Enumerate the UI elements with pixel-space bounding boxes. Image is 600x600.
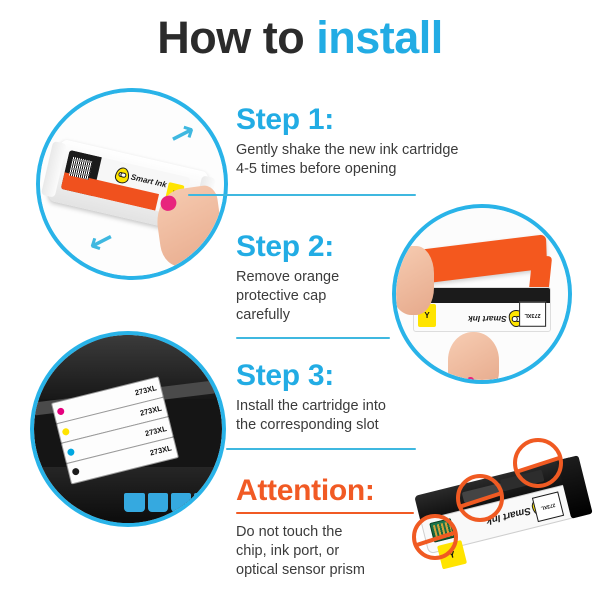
empty-slot-row xyxy=(124,493,214,512)
ink-droplet-mascot-icon xyxy=(114,165,131,184)
page-title-part2: install xyxy=(316,12,443,63)
cartridge-model-label: 273XL xyxy=(519,302,546,327)
step-3-body: Install the cartridge into the correspon… xyxy=(236,397,486,435)
no-touch-marker-optical-sensor-prism xyxy=(456,474,504,522)
step-2-text-block: Step 2: Remove orange protective cap car… xyxy=(236,231,406,325)
step-2-body-line-1: Remove orange xyxy=(236,268,406,287)
smart-ink-logo: Smart Ink xyxy=(468,310,524,327)
step-3-divider xyxy=(226,448,416,450)
cartridge-body-step2: Y Smart Ink 273XL xyxy=(413,287,551,332)
how-to-install-infographic: How to install Y Smart Ink xyxy=(0,0,600,600)
slot-tab xyxy=(194,493,214,512)
ink-color-dot xyxy=(66,447,74,455)
step-2-heading: Step 2: xyxy=(236,231,406,263)
cartridge-model-text: 273XL xyxy=(139,403,163,417)
ink-color-dot xyxy=(61,427,69,435)
hand-holding-pouch xyxy=(153,184,224,269)
smart-ink-logo-text: Smart Ink xyxy=(130,173,167,189)
slot-tab xyxy=(171,493,191,512)
cartridge-model-text: 273XL xyxy=(134,383,158,397)
no-touch-marker-chip xyxy=(513,438,563,488)
step-2-body-line-2: protective cap xyxy=(236,287,406,306)
thumb-upper xyxy=(396,246,434,315)
attention-photo: Y Smart Ink 273XL xyxy=(408,436,598,586)
step-1-text-block: Step 1: Gently shake the new ink cartrid… xyxy=(236,104,536,179)
cartridge-top-black xyxy=(414,288,550,303)
page-title-part1: How to xyxy=(157,12,316,63)
step-2-photo: Y Smart Ink 273XL xyxy=(392,204,572,384)
smart-ink-logo-text: Smart Ink xyxy=(468,314,507,322)
step-3-heading: Step 3: xyxy=(236,360,486,392)
step-1-body: Gently shake the new ink cartridge 4-5 t… xyxy=(236,141,536,179)
step-3-body-line-1: Install the cartridge into xyxy=(236,397,486,416)
step-3-body-line-2: the corresponding slot xyxy=(236,416,486,435)
attention-divider xyxy=(236,512,414,514)
page-title: How to install xyxy=(0,14,600,61)
step-1-divider xyxy=(188,194,416,196)
ink-color-dot xyxy=(71,467,79,475)
barcode-icon xyxy=(69,157,92,179)
ink-color-dot xyxy=(56,407,64,415)
slot-tab xyxy=(124,493,144,512)
cartridge-model-text: 273XL xyxy=(144,423,168,437)
step-1-body-line-2: 4-5 times before opening xyxy=(236,160,536,179)
step-2-divider xyxy=(236,337,390,339)
step-1-body-line-1: Gently shake the new ink cartridge xyxy=(236,141,536,160)
step-3-photo: 273XL 273XL 273XL 273XL xyxy=(30,331,226,527)
step-2-body-line-3: carefully xyxy=(236,306,406,325)
step-2-body: Remove orange protective cap carefully xyxy=(236,268,406,325)
step-1-heading: Step 1: xyxy=(236,104,536,136)
no-touch-marker-ink-port xyxy=(412,514,458,560)
cartridge-model-text: 273XL xyxy=(149,443,173,457)
slot-tab xyxy=(148,493,168,512)
step-3-text-block: Step 3: Install the cartridge into the c… xyxy=(236,360,486,435)
step-1-photo: Y Smart Ink ↗ ↙ xyxy=(36,88,228,280)
